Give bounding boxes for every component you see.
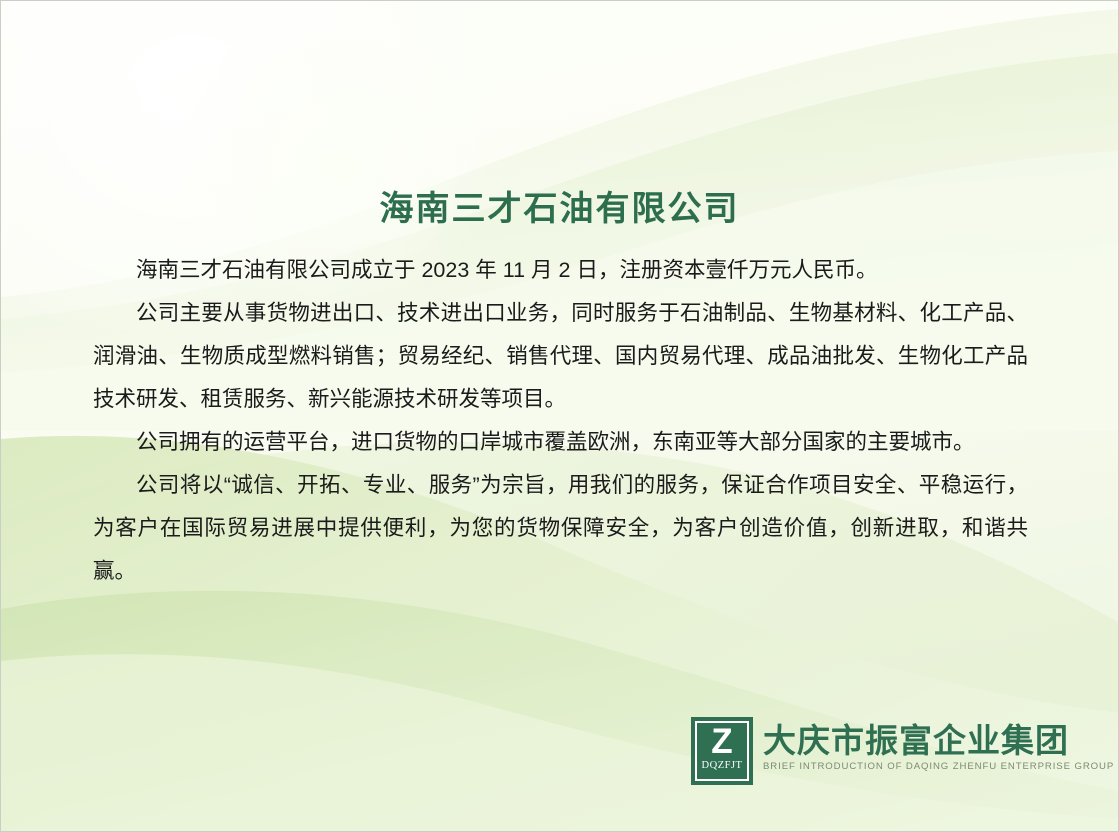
company-name-chinese: 大庆市振富企业集团 bbox=[763, 723, 1114, 759]
slide-content: 海南三才石油有限公司 海南三才石油有限公司成立于 2023 年 11 月 2 日… bbox=[1, 1, 1118, 831]
logo-abbreviation: DQZFJT bbox=[702, 760, 743, 771]
presentation-slide: 海南三才石油有限公司 海南三才石油有限公司成立于 2023 年 11 月 2 日… bbox=[0, 0, 1119, 832]
paragraph-2: 公司主要从事货物进出口、技术进出口业务，同时服务于石油制品、生物基材料、化工产品… bbox=[93, 292, 1028, 421]
body-text: 海南三才石油有限公司成立于 2023 年 11 月 2 日，注册资本壹仟万元人民… bbox=[93, 249, 1028, 593]
paragraph-1: 海南三才石油有限公司成立于 2023 年 11 月 2 日，注册资本壹仟万元人民… bbox=[93, 249, 1028, 292]
company-name-english: BRIEF INTRODUCTION OF DAQING ZHENFU ENTE… bbox=[763, 761, 1114, 772]
logo-frame: Z DQZFJT bbox=[695, 721, 749, 781]
footer-logo: Z DQZFJT 大庆市振富企业集团 BRIEF INTRODUCTION OF… bbox=[691, 717, 1114, 785]
paragraph-4: 公司将以“诚信、开拓、专业、服务”为宗旨，用我们的服务，保证合作项目安全、平稳运… bbox=[93, 464, 1028, 593]
page-title: 海南三才石油有限公司 bbox=[1, 181, 1118, 230]
company-logo-icon: Z DQZFJT bbox=[691, 717, 753, 785]
paragraph-3: 公司拥有的运营平台，进口货物的口岸城市覆盖欧洲，东南亚等大部分国家的主要城市。 bbox=[93, 421, 1028, 464]
logo-wordmark: 大庆市振富企业集团 BRIEF INTRODUCTION OF DAQING Z… bbox=[763, 717, 1114, 772]
logo-letter-z: Z bbox=[711, 725, 732, 759]
